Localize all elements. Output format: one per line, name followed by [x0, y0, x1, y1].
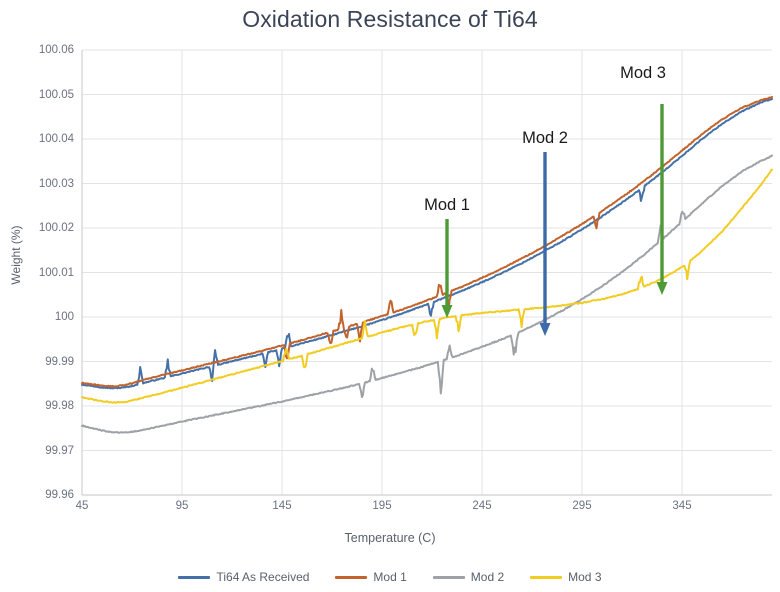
- annotation-label-mod-2: Mod 2: [522, 129, 568, 148]
- legend-color-swatch: [178, 576, 210, 579]
- legend-entry[interactable]: Mod 2: [433, 570, 504, 584]
- legend-label: Mod 2: [471, 570, 504, 584]
- legend-label: Mod 3: [568, 570, 601, 584]
- legend-label: Ti64 As Received: [216, 570, 309, 584]
- legend-label: Mod 1: [373, 570, 406, 584]
- series-line-ti64-as-received: [82, 99, 772, 388]
- chart-container: Oxidation Resistance of Ti64 Weight (%) …: [0, 0, 780, 592]
- legend-entry[interactable]: Mod 1: [335, 570, 406, 584]
- legend-entry[interactable]: Mod 3: [530, 570, 601, 584]
- annotation-label-mod-1: Mod 1: [424, 196, 470, 215]
- data-series-group: [82, 97, 772, 433]
- legend-color-swatch: [433, 576, 465, 579]
- plot-area: [0, 0, 780, 592]
- annotation-label-mod-3: Mod 3: [620, 64, 666, 83]
- legend-color-swatch: [335, 576, 367, 579]
- series-line-mod-1: [82, 97, 772, 387]
- legend-entry[interactable]: Ti64 As Received: [178, 570, 309, 584]
- annotation-arrow-head: [540, 323, 551, 336]
- chart-legend: Ti64 As ReceivedMod 1Mod 2Mod 3: [0, 570, 780, 584]
- legend-color-swatch: [530, 576, 562, 579]
- gridlines: [82, 50, 772, 495]
- annotation-arrow-head: [657, 282, 668, 295]
